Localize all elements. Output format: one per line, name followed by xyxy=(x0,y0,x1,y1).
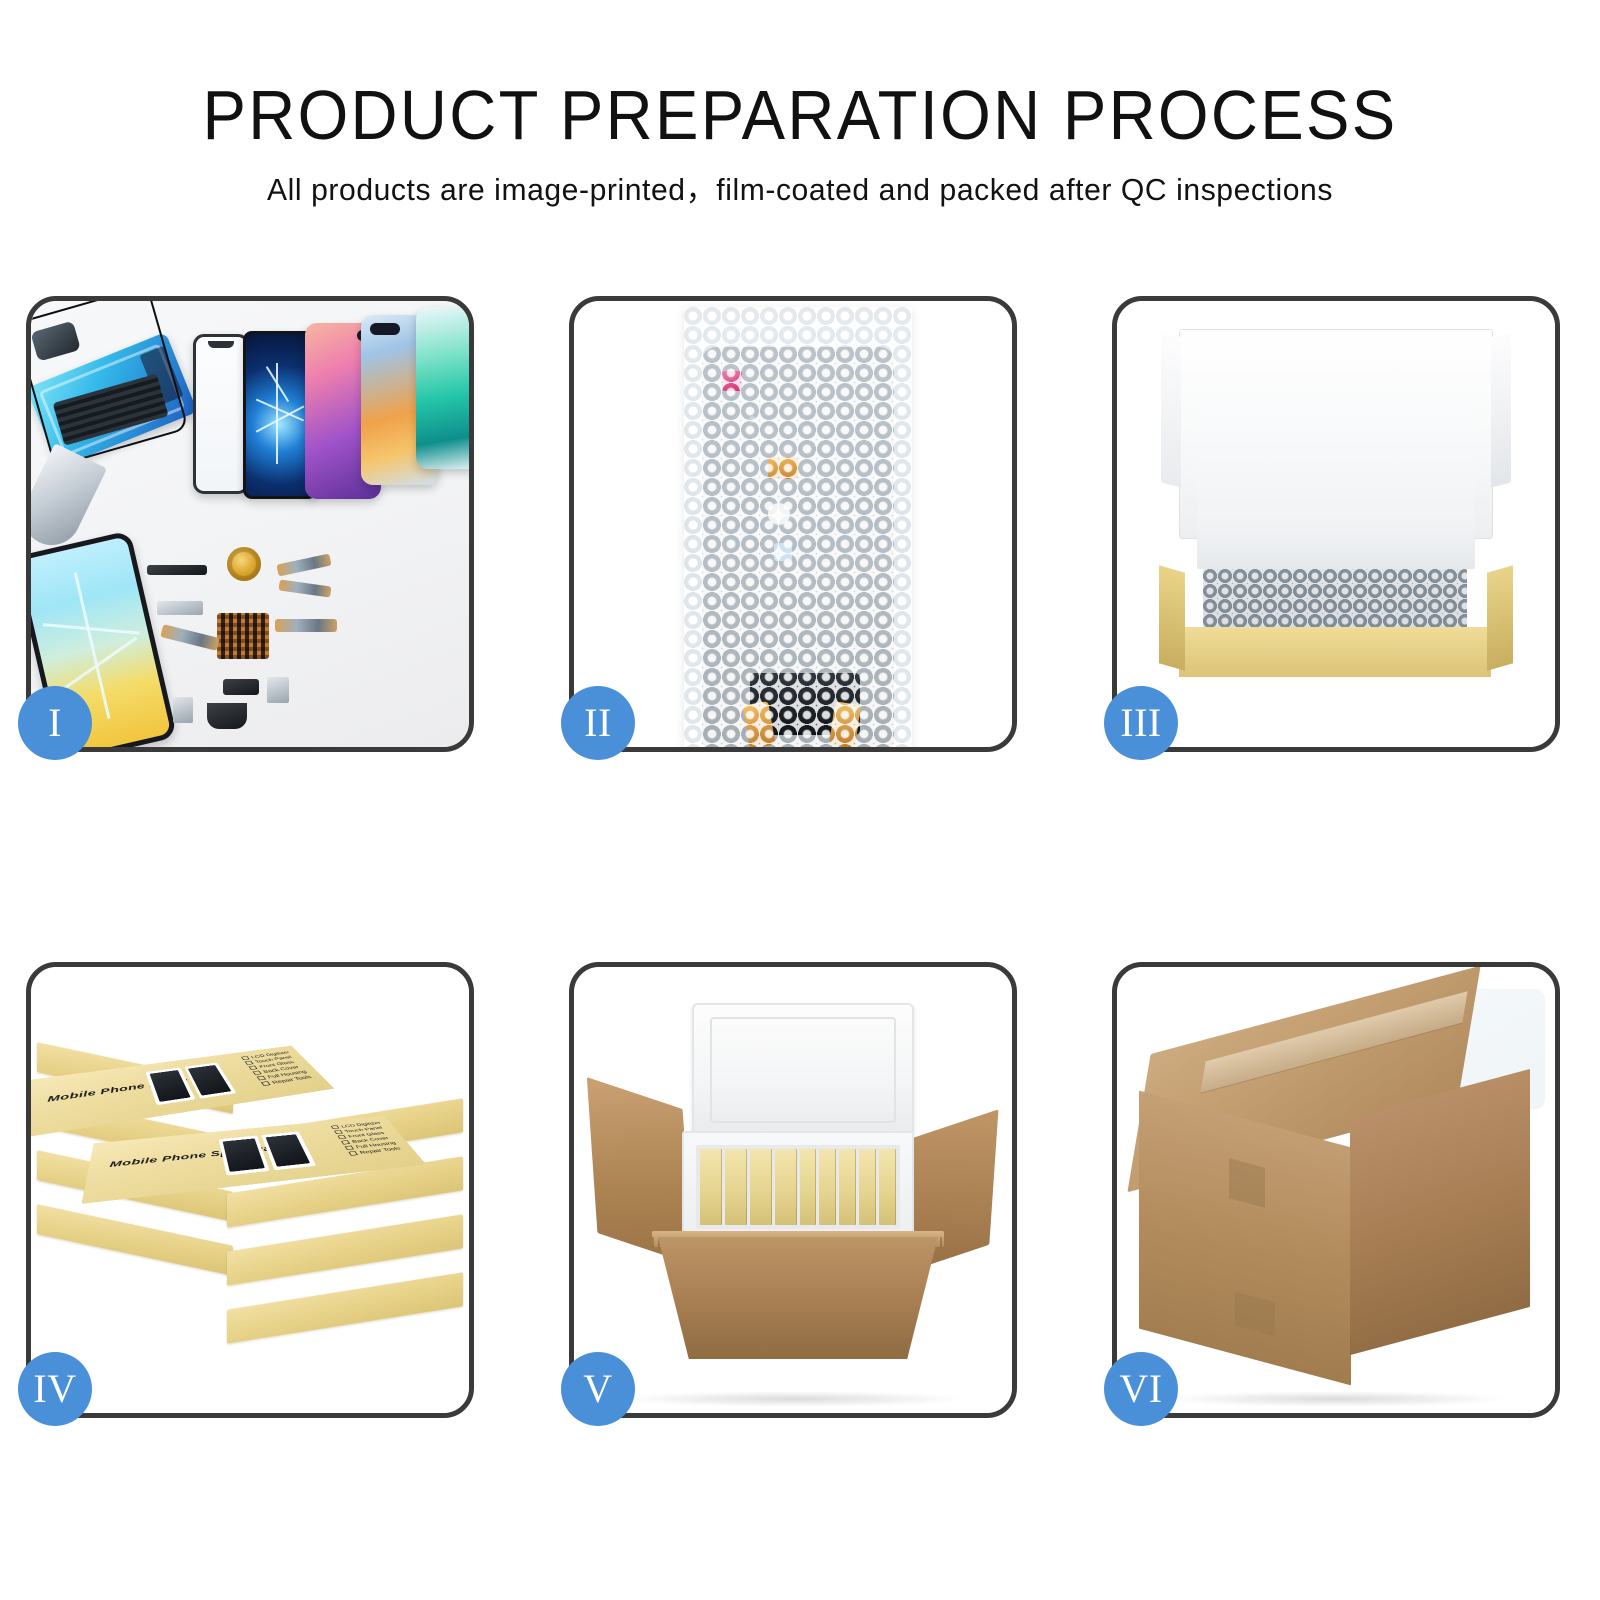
wrapped-ic-label xyxy=(774,543,792,561)
retail-box-right-3 xyxy=(227,1214,463,1285)
box-art-screen-white xyxy=(219,1135,270,1175)
battery-bay xyxy=(53,374,169,446)
packed-box xyxy=(859,1149,876,1225)
vibration-motor-part xyxy=(267,677,289,703)
flex-cable-part-b xyxy=(278,579,331,597)
step-5-image xyxy=(574,967,1012,1413)
retail-box-artwork-front xyxy=(219,1131,316,1175)
header: PRODUCT PREPARATION PROCESS All products… xyxy=(0,0,1600,208)
retail-box-column-left xyxy=(700,1149,797,1225)
wireless-charging-coil-part xyxy=(227,547,261,581)
teal-display-part xyxy=(416,307,469,469)
inner-box-flap-left xyxy=(1159,565,1185,670)
step-badge-1: I xyxy=(18,686,92,760)
packed-box xyxy=(819,1149,836,1225)
speaker-mesh-part xyxy=(147,565,207,575)
flex-cable-part-c xyxy=(275,619,337,632)
process-step-grid: I II xyxy=(26,296,1574,1476)
step-4-image: Mobile Phone Spare Parts LCD Digitizer T… xyxy=(31,967,469,1413)
step-badge-3: III xyxy=(1104,686,1178,760)
process-step-4[interactable]: Mobile Phone Spare Parts LCD Digitizer T… xyxy=(26,962,474,1418)
step-6-image xyxy=(1117,967,1555,1413)
bubble-wrapped-goods xyxy=(1203,569,1467,629)
packed-box xyxy=(879,1149,896,1225)
process-step-1[interactable]: I xyxy=(26,296,474,752)
step-badge-6: VI xyxy=(1104,1352,1178,1426)
earpiece-part xyxy=(207,703,247,729)
back-housing-part xyxy=(31,301,189,467)
flex-cable-part-a xyxy=(276,554,331,577)
step-badge-5: V xyxy=(561,1352,635,1426)
step-3-image xyxy=(1117,301,1555,747)
page-subtitle: All products are image-printed，film-coat… xyxy=(24,172,1576,208)
shipping-carton-side xyxy=(1350,1069,1530,1355)
camera-module-part xyxy=(223,679,259,695)
wrapped-gold-connector-top xyxy=(768,457,798,479)
page-title: PRODUCT PREPARATION PROCESS xyxy=(56,78,1544,152)
foam-insert xyxy=(1197,411,1475,569)
retail-box-artwork-rear xyxy=(145,1062,236,1105)
camera-lens-cutout xyxy=(31,321,81,362)
box-art-screen-black xyxy=(261,1131,316,1170)
styrofoam-lid xyxy=(692,1003,914,1137)
packed-box xyxy=(725,1149,747,1225)
retail-box-stack: Mobile Phone Spare Parts LCD Digitizer T… xyxy=(31,967,469,1413)
process-step-3[interactable]: III xyxy=(1112,296,1560,752)
packed-retail-boxes xyxy=(696,1145,900,1229)
shipping-carton-shadow xyxy=(1161,1391,1511,1407)
packed-box xyxy=(700,1149,722,1225)
flex-cable-part-d xyxy=(160,624,219,651)
metal-bracket-part xyxy=(157,601,203,615)
retail-box-checklist-rear: LCD Digitizer Touch Panel Front Glass Ba… xyxy=(241,1050,316,1087)
inner-box-front-face xyxy=(1179,627,1491,677)
qc-sticker xyxy=(722,371,742,391)
carton-body xyxy=(658,1237,938,1359)
packed-box xyxy=(839,1149,856,1225)
inner-box-flap-right xyxy=(1487,565,1513,670)
step-badge-4: IV xyxy=(18,1352,92,1426)
carton-shadow xyxy=(618,1391,968,1407)
retail-box-column-right xyxy=(800,1149,897,1225)
tempered-glass-part xyxy=(193,334,249,494)
process-step-6[interactable]: VI xyxy=(1112,962,1560,1418)
step-2-image xyxy=(574,301,1012,747)
packed-box xyxy=(775,1149,797,1225)
step-1-image xyxy=(31,301,469,747)
retail-box-right-4 xyxy=(227,1272,463,1343)
ic-chip-part xyxy=(217,613,269,659)
infographic-page: PRODUCT PREPARATION PROCESS All products… xyxy=(0,0,1600,1600)
retail-box-checklist-front: LCD Digitizer Touch Panel Front Glass Ba… xyxy=(331,1121,405,1157)
process-step-2[interactable]: II xyxy=(569,296,1017,752)
process-step-5[interactable]: V xyxy=(569,962,1017,1418)
sim-tray-part xyxy=(173,697,193,723)
packed-box xyxy=(800,1149,817,1225)
step-badge-2: II xyxy=(561,686,635,760)
wrapped-home-button xyxy=(768,503,790,525)
packed-box xyxy=(750,1149,772,1225)
bubble-wrap-bag xyxy=(684,307,912,747)
